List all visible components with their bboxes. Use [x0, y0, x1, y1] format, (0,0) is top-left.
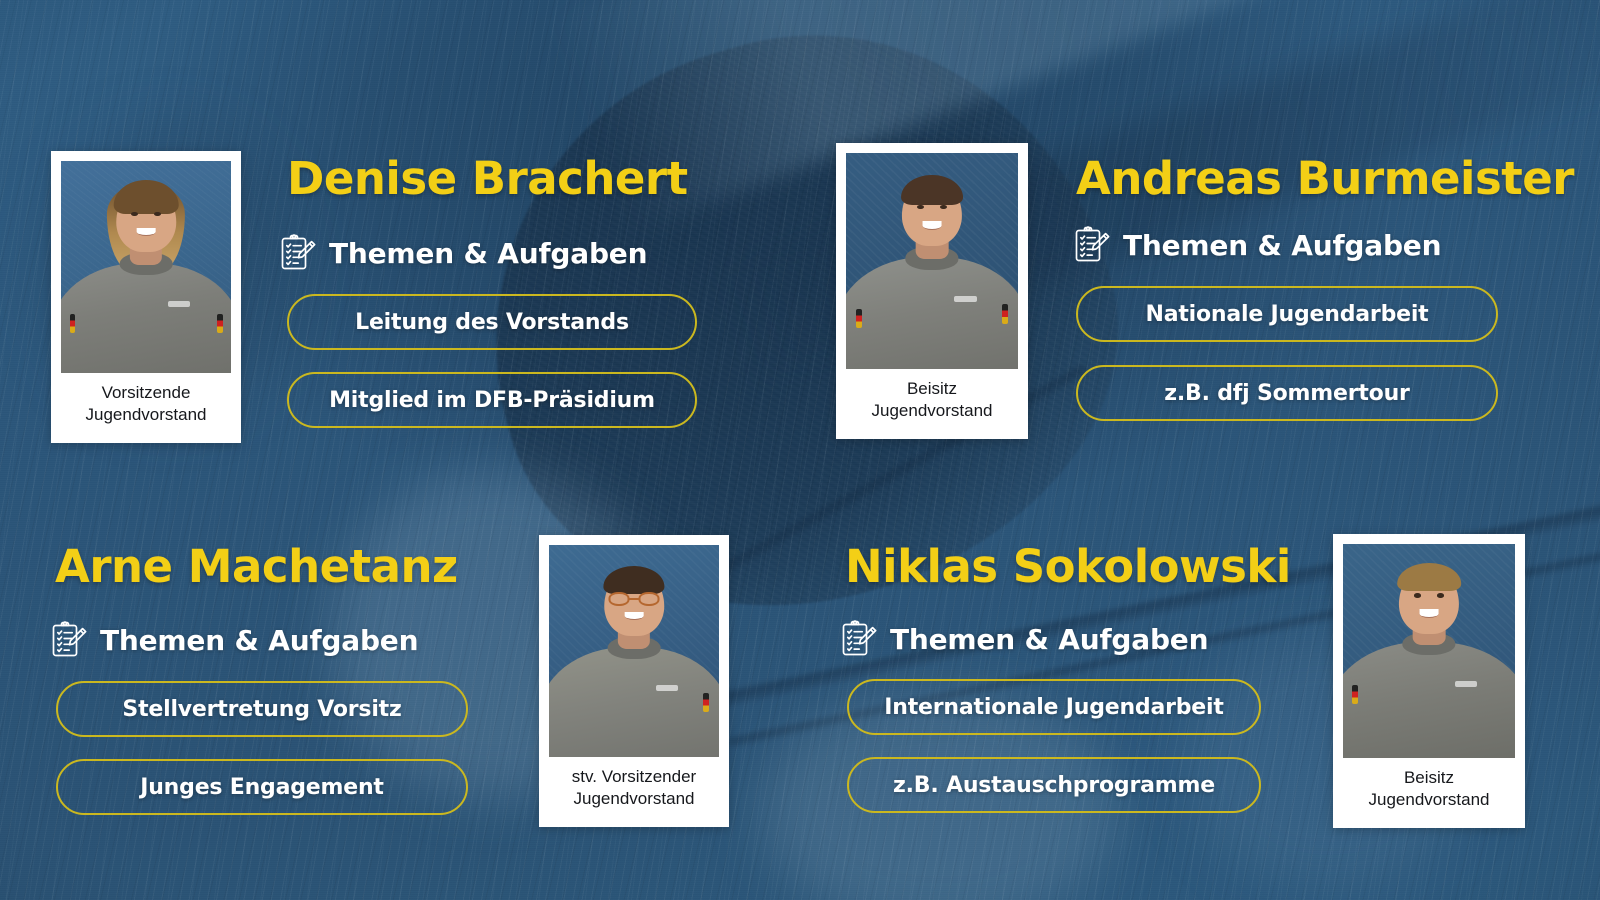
portrait-photo	[1343, 544, 1515, 758]
topic-heading-row: Themen & Aufgaben	[838, 618, 1208, 660]
task-pill[interactable]: Mitglied im DFB-Präsidium	[287, 372, 697, 428]
person-name: Denise Brachert	[287, 152, 688, 205]
topic-heading-label: Themen & Aufgaben	[100, 624, 418, 657]
person-name: Arne Machetanz	[55, 540, 458, 593]
task-pill[interactable]: z.B. Austauschprogramme	[847, 757, 1261, 813]
topic-heading-label: Themen & Aufgaben	[890, 623, 1208, 656]
photo-card: Beisitz Jugendvorstand	[836, 143, 1028, 439]
task-pill[interactable]: Leitung des Vorstands	[287, 294, 697, 350]
task-pill[interactable]: Stellvertretung Vorsitz	[56, 681, 468, 737]
task-pill[interactable]: Nationale Jugendarbeit	[1076, 286, 1498, 342]
topic-heading-row: Themen & Aufgaben	[277, 232, 647, 274]
photo-caption: stv. Vorsitzender Jugendvorstand	[549, 757, 719, 821]
topic-heading-row: Themen & Aufgaben	[48, 619, 418, 661]
clipboard-checklist-pencil-icon	[1071, 224, 1111, 266]
photo-caption: Beisitz Jugendvorstand	[1343, 758, 1515, 822]
photo-card: Beisitz Jugendvorstand	[1333, 534, 1525, 828]
person-name: Andreas Burmeister	[1076, 152, 1574, 205]
portrait-photo	[61, 161, 231, 373]
topic-heading-row: Themen & Aufgaben	[1071, 224, 1441, 266]
portrait-photo	[549, 545, 719, 757]
task-pill[interactable]: z.B. dfj Sommertour	[1076, 365, 1498, 421]
topic-heading-label: Themen & Aufgaben	[1123, 229, 1441, 262]
topic-heading-label: Themen & Aufgaben	[329, 237, 647, 270]
portrait-photo	[846, 153, 1018, 369]
photo-caption: Vorsitzende Jugendvorstand	[61, 373, 231, 437]
task-pill[interactable]: Internationale Jugendarbeit	[847, 679, 1261, 735]
clipboard-checklist-pencil-icon	[838, 618, 878, 660]
task-pill[interactable]: Junges Engagement	[56, 759, 468, 815]
clipboard-checklist-pencil-icon	[48, 619, 88, 661]
photo-caption: Beisitz Jugendvorstand	[846, 369, 1018, 433]
photo-card: stv. Vorsitzender Jugendvorstand	[539, 535, 729, 827]
person-name: Niklas Sokolowski	[845, 540, 1291, 593]
photo-card: Vorsitzende Jugendvorstand	[51, 151, 241, 443]
clipboard-checklist-pencil-icon	[277, 232, 317, 274]
poster-canvas: Vorsitzende Jugendvorstand Denise Brache…	[0, 0, 1600, 900]
